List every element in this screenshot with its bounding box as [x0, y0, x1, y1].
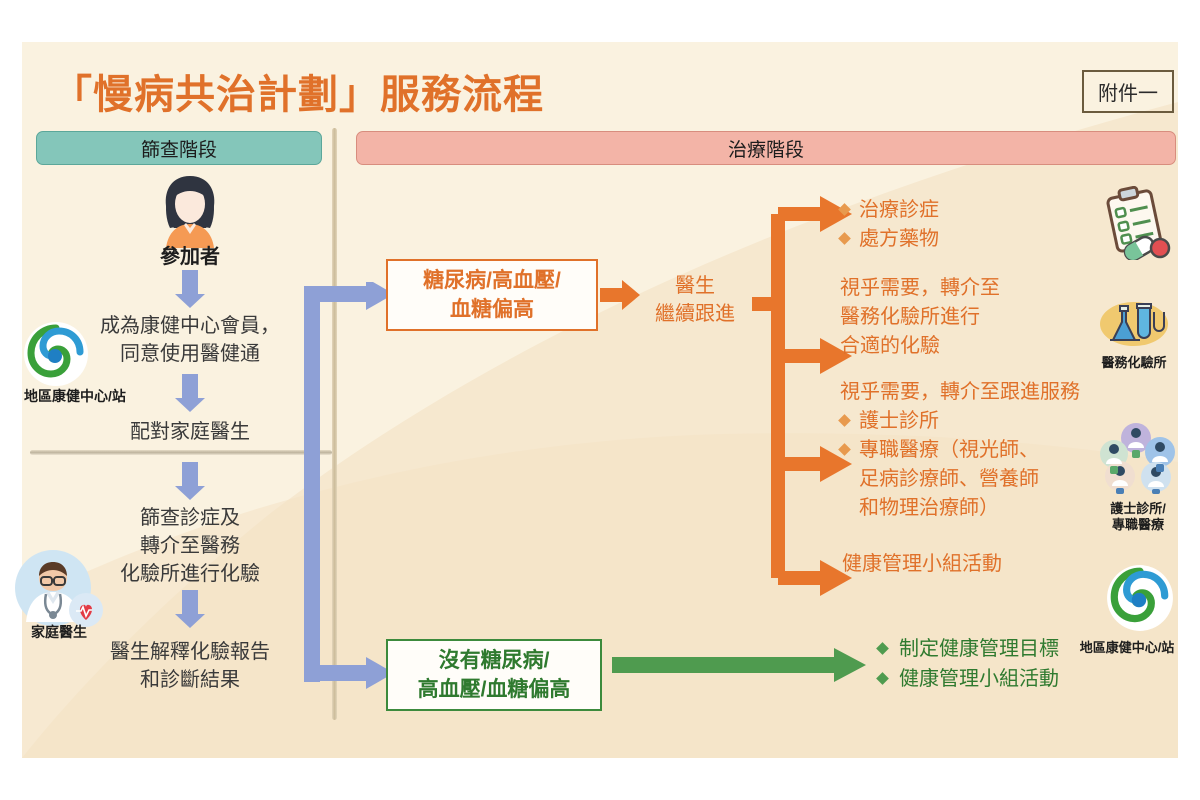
screening-step-3-line1: 篩查診症及	[55, 504, 325, 532]
participant-label: 參加者	[110, 240, 270, 269]
screening-step-1: 成為康健中心會員， 同意使用醫健通	[60, 312, 320, 368]
diamond-bullet-icon	[838, 414, 851, 427]
positive-box-line1: 糖尿病/高血壓/	[423, 266, 561, 295]
negative-item-1: 健康管理小組活動	[878, 664, 1059, 694]
healthcare-team-icon	[1092, 422, 1184, 494]
screening-step-4-line1: 醫生解釋化驗報告	[52, 638, 328, 666]
diamond-bullet-icon	[838, 232, 851, 245]
positive-box-line2: 血糖偏高	[423, 295, 561, 324]
screening-step-1-line1: 成為康健中心會員，	[60, 312, 320, 340]
negative-box-line2: 高血壓/血糖偏高	[418, 675, 571, 704]
arrow-down-3	[175, 462, 205, 500]
screening-step-4-line2: 和診斷結果	[52, 666, 328, 694]
annex-badge: 附件一	[1082, 70, 1174, 113]
blue-connector-to-negative	[300, 648, 398, 698]
branch-lab-line-1: 醫務化驗所進行	[840, 303, 1090, 332]
branch-followup-item-1: 專職醫療（視光師、 足病診療師、營養師 和物理治療師）	[840, 436, 1110, 523]
negative-outcomes-content: 制定健康管理目標 健康管理小組活動	[878, 634, 1059, 694]
diamond-bullet-icon	[876, 672, 889, 685]
district-health-centre-logo-icon	[1104, 563, 1176, 633]
negative-box-line1: 沒有糖尿病/	[418, 646, 571, 675]
screening-step-2: 配對家庭醫生	[60, 418, 320, 446]
branch-lab-line-0: 視乎需要，轉介至	[840, 274, 1090, 303]
right-icon-nurse-allied: 護士診所/ 專職醫療	[1092, 422, 1184, 533]
flowchart-canvas: 「慢病共治計劃」服務流程 附件一 篩查階段 治療階段 參加者 成為康健中心會員，…	[0, 0, 1200, 800]
negative-item-0: 制定健康管理目標	[878, 634, 1059, 664]
branch-health-group-content: 健康管理小組活動	[842, 550, 1102, 579]
arrow-down-4	[175, 590, 205, 628]
nurse-allied-caption-line1: 護士診所/	[1092, 501, 1184, 517]
family-doctor-label: 家庭醫生	[4, 622, 114, 642]
branch-followup-item-1-text: 專職醫療（視光師、 足病診療師、營養師 和物理治療師）	[859, 436, 1110, 523]
page-title: 「慢病共治計劃」服務流程	[52, 62, 544, 120]
branch-treatment-content: 治療診症 處方藥物	[840, 196, 1090, 254]
branch-health-group-item-0: 健康管理小組活動	[842, 550, 1102, 579]
row-divider	[30, 450, 332, 455]
box-positive-diagnosis: 糖尿病/高血壓/ 血糖偏高	[386, 259, 598, 331]
diamond-bullet-icon	[876, 642, 889, 655]
lab-flask-icon	[1096, 300, 1172, 348]
nurse-allied-caption-line2: 專職醫療	[1092, 517, 1184, 533]
branch-followup-item-0: 護士診所	[840, 407, 1110, 436]
medical-lab-caption: 醫務化驗所	[1096, 355, 1172, 371]
stage-header-treatment: 治療階段	[356, 131, 1176, 165]
green-arrow-to-negative-outcomes	[612, 648, 866, 687]
district-health-centre-logo-icon	[22, 320, 90, 393]
branch-treatment-item-1: 處方藥物	[840, 225, 1090, 254]
branch-treatment-item-0: 治療診症	[840, 196, 1090, 225]
diamond-bullet-icon	[838, 203, 851, 216]
right-icon-district-health-centre: 地區康健中心/站	[1104, 563, 1176, 656]
blue-connector-to-positive	[300, 282, 398, 682]
orange-branch-tree	[640, 196, 870, 601]
screening-step-1-line2: 同意使用醫健通	[60, 340, 320, 368]
arrow-down-1	[175, 270, 205, 308]
right-icon-clipboard-pills	[1094, 186, 1174, 265]
screening-step-4: 醫生解釋化驗報告 和診斷結果	[52, 638, 328, 694]
arrow-down-2	[175, 374, 205, 412]
box-negative-diagnosis: 沒有糖尿病/ 高血壓/血糖偏高	[386, 639, 602, 711]
dhc-left-label: 地區康健中心/站	[0, 386, 150, 406]
branch-followup-heading: 視乎需要，轉介至跟進服務	[840, 378, 1110, 407]
diamond-bullet-icon	[838, 443, 851, 456]
clipboard-pills-icon	[1094, 186, 1174, 260]
dhc-right-caption: 地區康健中心/站	[1078, 640, 1176, 656]
branch-lab-referral-content: 視乎需要，轉介至 醫務化驗所進行 合適的化驗	[840, 274, 1090, 361]
stage-header-screening: 篩查階段	[36, 131, 322, 165]
branch-lab-line-2: 合適的化驗	[840, 332, 1090, 361]
branch-followup-services-content: 視乎需要，轉介至跟進服務 護士診所 專職醫療（視光師、 足病診療師、營養師 和物…	[840, 378, 1110, 523]
right-icon-medical-lab: 醫務化驗所	[1096, 300, 1172, 371]
